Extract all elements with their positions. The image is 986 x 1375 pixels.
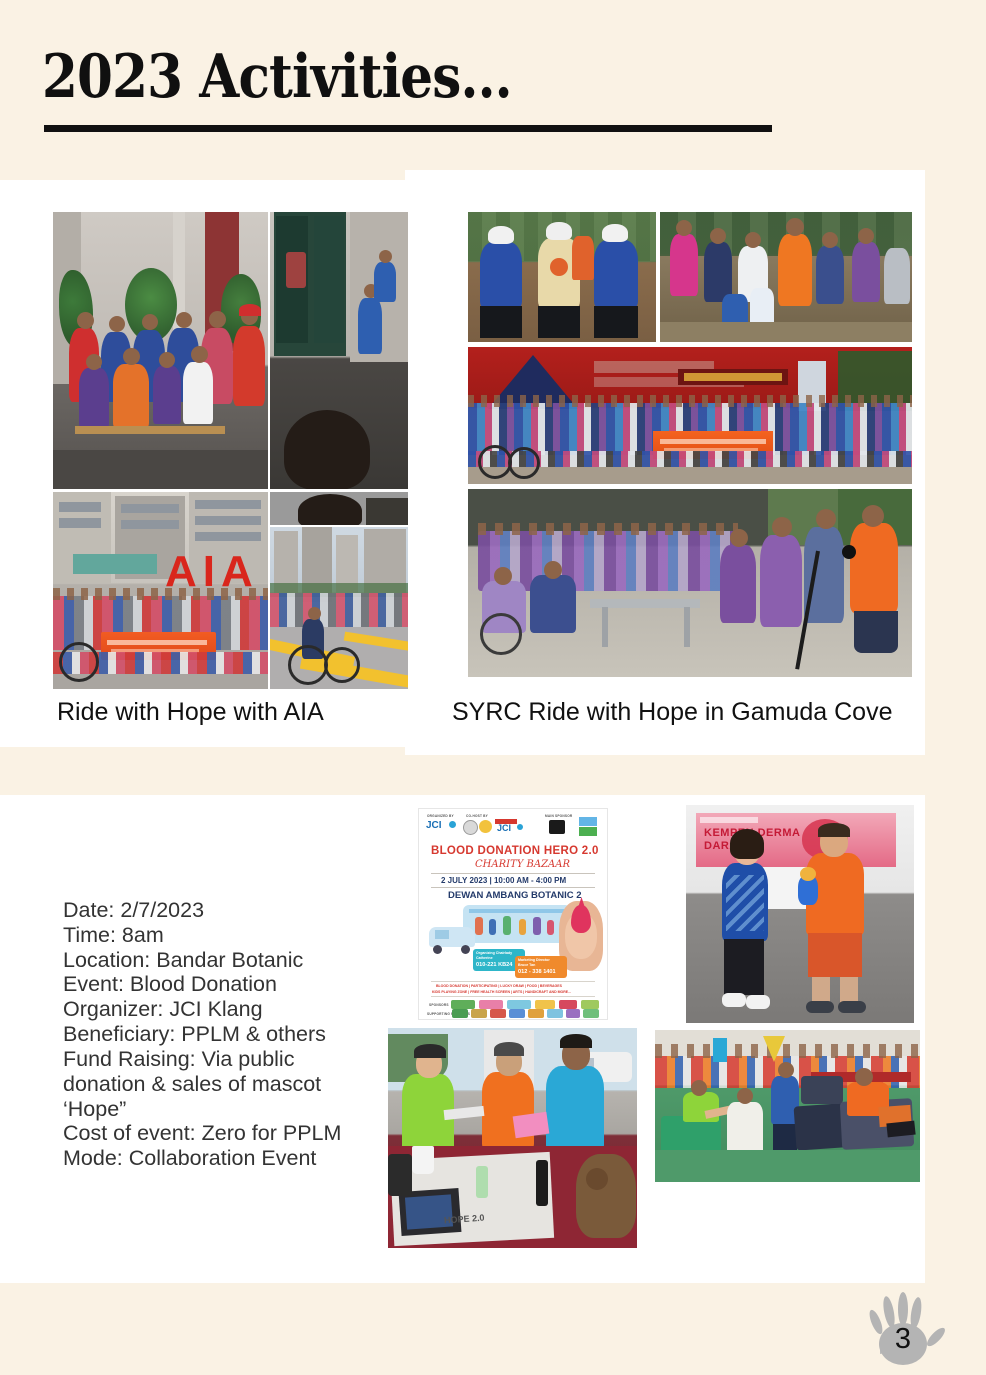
caption-left: Ride with Hope with AIA <box>57 698 324 727</box>
poster-datetime: 2 JULY 2023 | 10:00 AM - 4:00 PM <box>441 876 566 885</box>
poster-contact2-phone: 012 - 338 1401 <box>518 969 556 975</box>
detail-fundraising-1: Fund Raising: Via public <box>63 1047 378 1072</box>
photo-aia-banner: AIA <box>53 492 268 689</box>
photo-mascot-handover: KEMPEN DERMA DARAH <box>686 805 914 1023</box>
photo-blood-donation-poster: ORGANIZED BY JCI CO-HOST BY JCI MAIN SPO… <box>418 808 608 1020</box>
poster-subtitle: CHARITY BAZAAR <box>475 859 570 870</box>
detail-mode: Mode: Collaboration Event <box>63 1146 378 1171</box>
poster-contact1-phone: 010-221 KB24 <box>476 962 512 968</box>
poster-contact2-role: Marketing Director <box>518 958 550 962</box>
poster-contact1-role: Organizing Chairlady <box>476 951 512 955</box>
poster-label-cohost-by: CO-HOST BY <box>466 814 488 818</box>
photo-syrc-participants <box>660 212 912 342</box>
photo-bazaar-booth: HOPE 2.0 <box>388 1028 637 1248</box>
detail-fundraising-3: ‘Hope” <box>63 1097 378 1122</box>
poster-logo-jci-2: JCI <box>497 823 511 833</box>
detail-fundraising-2: donation & sales of mascot <box>63 1072 378 1097</box>
poster-label-main-sponsor: MAIN SPONSOR <box>545 814 572 818</box>
photo-syrc-speaker <box>468 489 912 677</box>
photo-aia-lobby <box>270 212 408 489</box>
detail-time: Time: 8am <box>63 923 378 948</box>
detail-date: Date: 2/7/2023 <box>63 898 378 923</box>
photo-aia-spectator <box>270 492 408 525</box>
event-details: Date: 2/7/2023 Time: 8am Location: Banda… <box>63 898 378 1171</box>
poster-activities-2: KIDS PLAYING ZONE | FREE HEALTH SCREEN |… <box>432 990 571 994</box>
poster-activities-1: BLOOD DONATION | PARTICIPATING | LUCKY D… <box>436 984 562 988</box>
detail-beneficiary: Beneficiary: PPLM & others <box>63 1022 378 1047</box>
poster-label-sponsors: SPONSORS <box>429 1003 449 1007</box>
poster-contact2-name: Bruce Tan <box>518 963 535 967</box>
title-underline <box>44 125 772 132</box>
photo-aia-street-ride <box>270 527 408 689</box>
photo-syrc-cyclist-backs <box>468 212 656 342</box>
poster-label-organized-by: ORGANIZED BY <box>427 814 454 818</box>
poster-contact1-name: Catherine <box>476 956 493 960</box>
poster-logo-jci-1: JCI <box>426 820 442 831</box>
page-title: 2023 Activities... <box>42 42 512 112</box>
photo-syrc-group <box>468 347 912 484</box>
slide-root: 2023 Activities... <box>0 0 986 1375</box>
detail-location: Location: Bandar Botanic <box>63 948 378 973</box>
detail-event: Event: Blood Donation <box>63 972 378 997</box>
page-number: 3 <box>888 1323 918 1356</box>
detail-organizer: Organizer: JCI Klang <box>63 997 378 1022</box>
photo-donation-hall <box>655 1030 920 1182</box>
photo-aia-group <box>53 212 268 489</box>
poster-title: BLOOD DONATION HERO 2.0 <box>431 845 599 857</box>
detail-cost: Cost of event: Zero for PPLM <box>63 1121 378 1146</box>
caption-right: SYRC Ride with Hope in Gamuda Cove <box>452 698 892 727</box>
poster-venue: DEWAN AMBANG BOTANIC 2 <box>448 890 582 901</box>
